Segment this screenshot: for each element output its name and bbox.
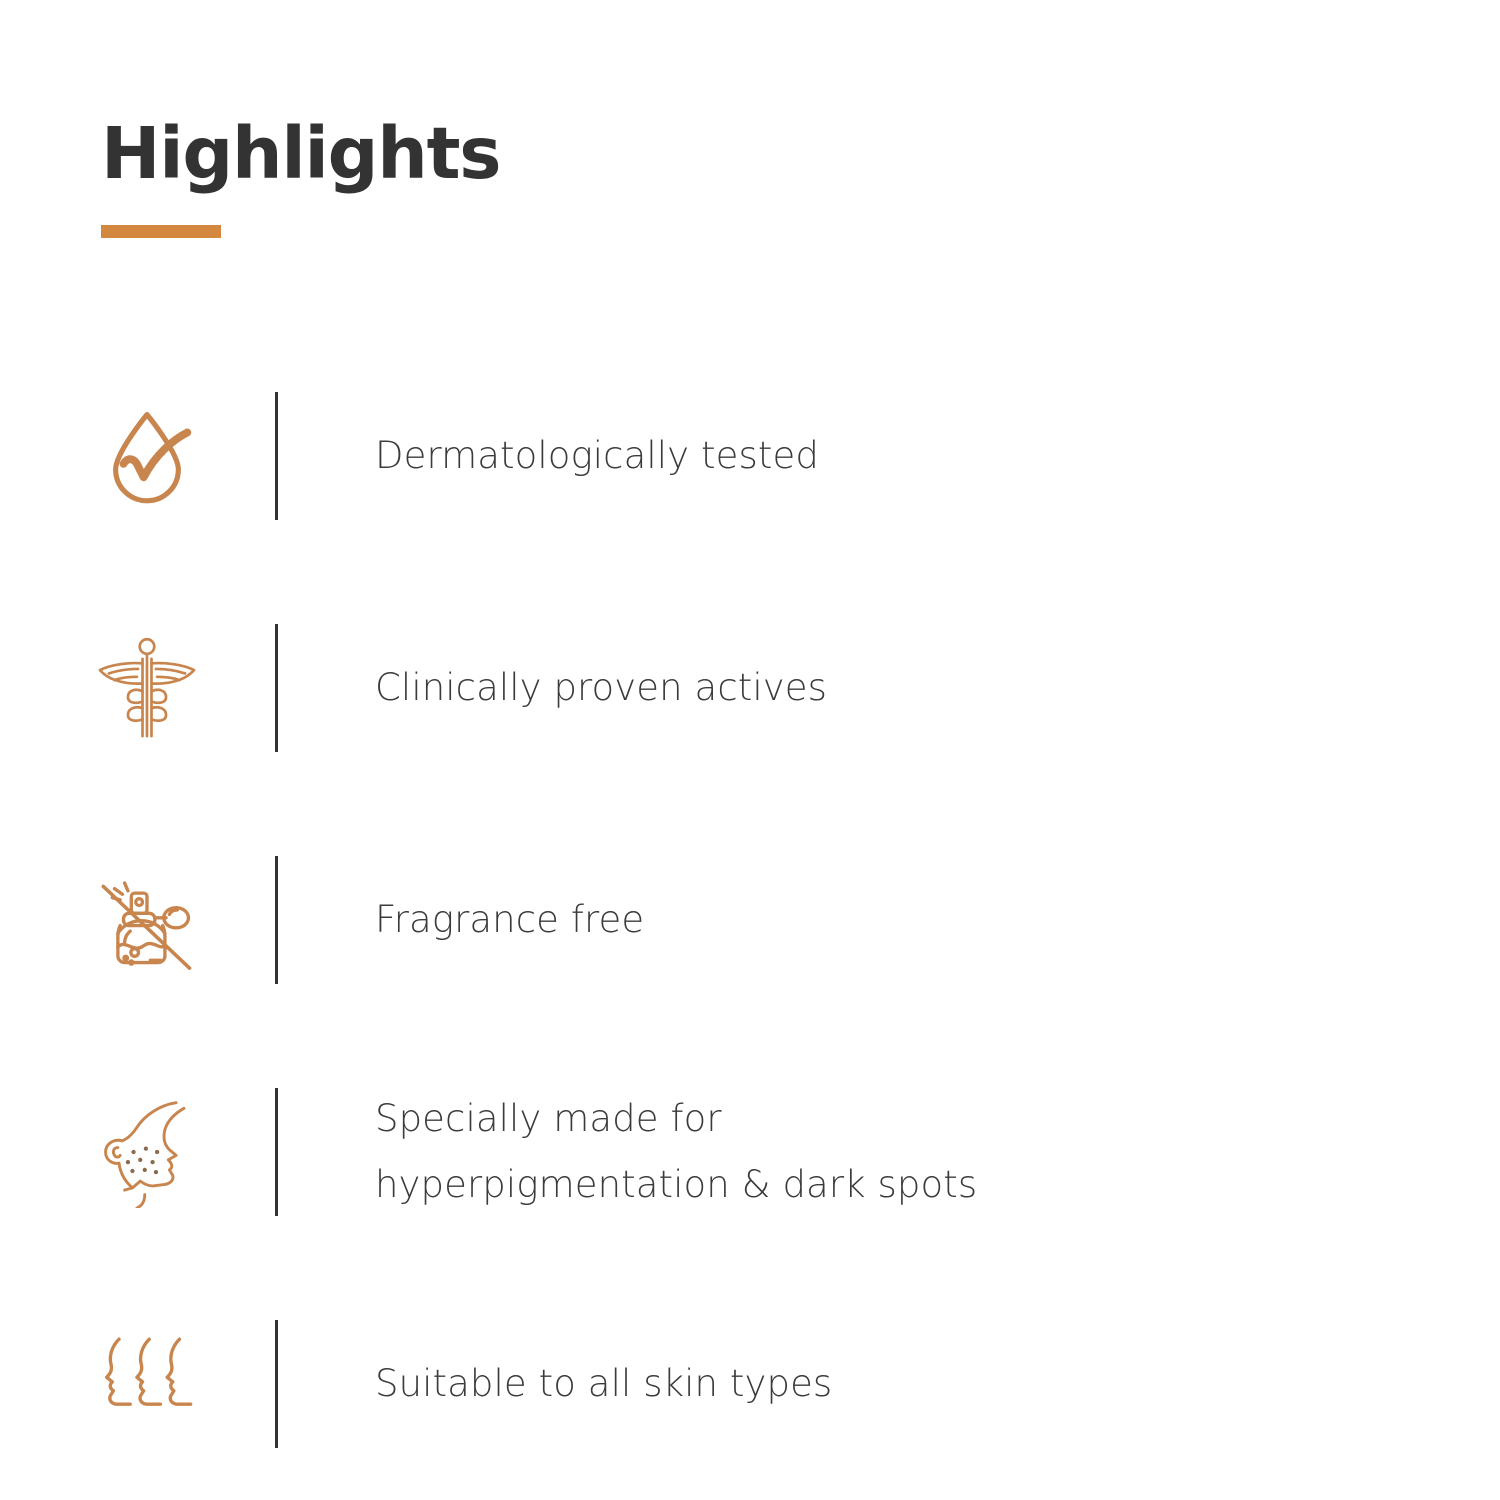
highlight-label: Fragrance free: [375, 887, 1500, 953]
highlight-icon-cell: [0, 1328, 275, 1440]
highlight-row: Fragrance free: [0, 804, 1500, 1036]
no-fragrance-bottle-icon: [91, 864, 203, 976]
three-face-profiles-icon: [91, 1328, 203, 1440]
highlight-text-cell: Clinically proven actives: [278, 655, 1500, 721]
highlights-page: Highlights Dermatologically tested: [0, 0, 1500, 1500]
highlight-label: Suitable to all skin types: [375, 1351, 1500, 1417]
heading-block: Highlights: [101, 118, 500, 238]
highlight-text-cell: Fragrance free: [278, 887, 1500, 953]
highlight-icon-cell: [0, 1096, 275, 1208]
highlight-text-cell: Specially made for hyperpigmentation & d…: [278, 1086, 1500, 1218]
highlight-row: Suitable to all skin types: [0, 1268, 1500, 1500]
highlight-label: Specially made for hyperpigmentation & d…: [375, 1086, 1500, 1218]
highlight-icon-cell: [0, 632, 275, 744]
highlights-list: Dermatologically tested: [0, 340, 1500, 1500]
highlight-icon-cell: [0, 400, 275, 512]
highlight-label: Dermatologically tested: [375, 423, 1500, 489]
highlight-label: Clinically proven actives: [375, 655, 1500, 721]
page-title: Highlights: [101, 118, 500, 189]
highlight-text-cell: Dermatologically tested: [278, 423, 1500, 489]
droplet-check-icon: [91, 400, 203, 512]
highlight-text-cell: Suitable to all skin types: [278, 1351, 1500, 1417]
caduceus-icon: [91, 632, 203, 744]
highlight-row: Clinically proven actives: [0, 572, 1500, 804]
highlight-row: Dermatologically tested: [0, 340, 1500, 572]
title-underline-accent: [101, 225, 221, 238]
highlight-row: Specially made for hyperpigmentation & d…: [0, 1036, 1500, 1268]
face-with-dark-spots-icon: [91, 1096, 203, 1208]
highlight-icon-cell: [0, 864, 275, 976]
